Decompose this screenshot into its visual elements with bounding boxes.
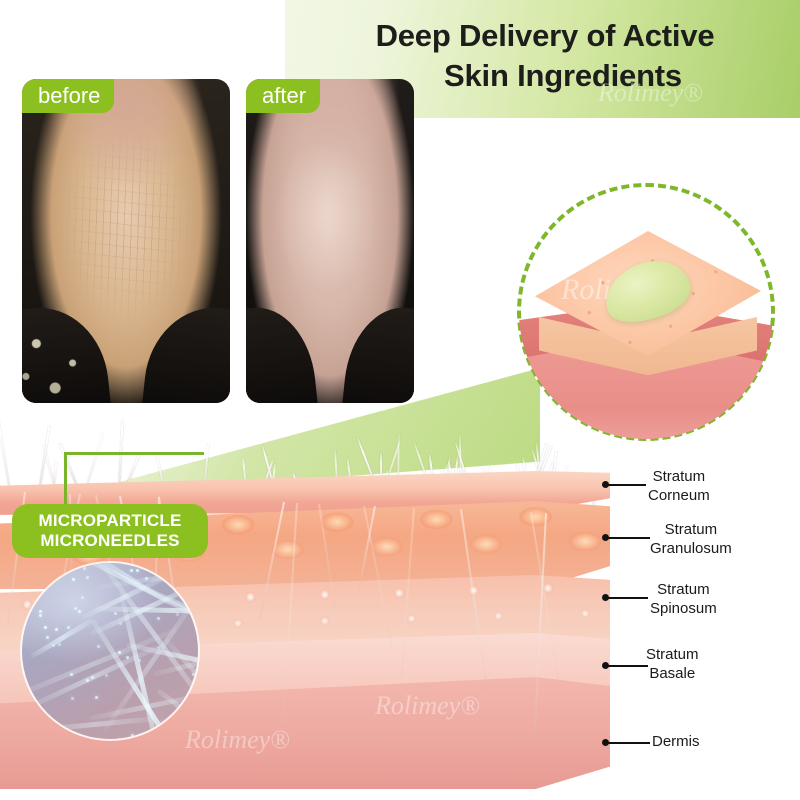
callout-label: Stratum Spinosum — [650, 581, 717, 619]
smooth-skin-highlight — [270, 144, 391, 325]
watermark-dermis-1: Rolimey® — [185, 725, 290, 755]
fiber-sparkle — [157, 617, 160, 620]
after-label: after — [246, 79, 320, 113]
callout-line — [606, 484, 646, 486]
infographic-root: Deep Delivery of Active Skin Ingredients… — [0, 0, 800, 800]
fiber-sparkle — [46, 636, 49, 639]
fiber-sparkle — [39, 614, 42, 617]
microneedle — [53, 461, 57, 487]
fiber-sparkle — [83, 567, 86, 570]
microparticle-inset-circle — [22, 563, 198, 739]
callout-line — [606, 665, 648, 667]
callout-label: Dermis — [652, 733, 700, 752]
fiber-sparkle — [131, 734, 134, 737]
fiber-sparkle — [72, 578, 75, 581]
wrinkle-texture — [43, 131, 209, 338]
after-photo: after — [246, 79, 414, 403]
before-photo: before — [22, 79, 230, 403]
fiber-sparkle — [39, 610, 42, 613]
callout-label: Stratum Granulosum — [650, 521, 732, 559]
badge-line-1: MICROPARTICLE — [39, 511, 182, 531]
fiber-sparkle — [44, 626, 47, 629]
fiber-sparkle — [157, 646, 160, 649]
fiber-sparkle — [70, 673, 73, 676]
microneedle — [0, 418, 10, 486]
skin-block-illustration: Rolimey® — [519, 185, 773, 439]
callout-label: Stratum Basale — [646, 646, 699, 684]
fiber-sparkle — [192, 673, 195, 676]
callout-line — [606, 537, 650, 539]
before-lace-pattern — [22, 307, 103, 403]
watermark-dermis-2: Rolimey® — [375, 691, 480, 721]
microneedle-fiber — [30, 619, 94, 660]
fiber-sparkle — [130, 569, 133, 572]
fiber-sparkle — [136, 569, 139, 572]
fiber-sparkle — [119, 622, 122, 625]
fiber-sparkle — [86, 576, 89, 579]
fiber-sparkle — [176, 613, 179, 616]
title-line-1: Deep Delivery of Active — [376, 18, 715, 53]
fiber-sparkle — [78, 610, 81, 613]
fiber-sparkle — [81, 596, 84, 599]
badge-line-2: MICRONEEDLES — [40, 531, 179, 551]
fiber-sparkle — [138, 659, 141, 662]
fiber-sparkle — [95, 696, 98, 699]
microparticle-badge: MICROPARTICLE MICRONEEDLES — [12, 504, 208, 558]
fiber-sparkle — [97, 645, 100, 648]
fiber-sparkle — [58, 643, 61, 646]
fiber-sparkle — [118, 738, 121, 739]
fiber-sparkle — [196, 669, 198, 672]
microneedle — [39, 426, 50, 487]
fiber-sparkle — [52, 644, 55, 647]
callout-label: Stratum Corneum — [648, 468, 710, 506]
fiber-sparkle — [105, 674, 108, 677]
fiber-sparkle — [114, 612, 117, 615]
callout-line — [606, 597, 648, 599]
fiber-sparkle — [71, 697, 74, 700]
fiber-sparkle — [181, 710, 184, 713]
fiber-sparkle — [74, 607, 77, 610]
fiber-sparkle — [67, 626, 70, 629]
before-label: before — [22, 79, 114, 113]
callout-line — [606, 742, 650, 744]
fiber-sparkle — [55, 628, 58, 631]
